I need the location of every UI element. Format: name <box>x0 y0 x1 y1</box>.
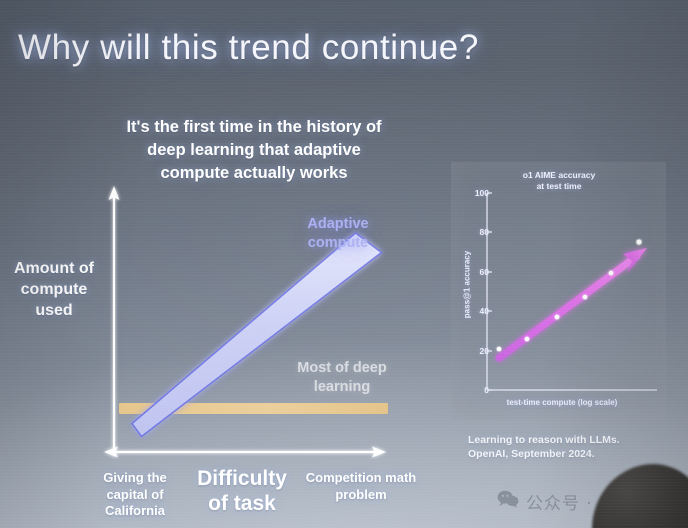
subtitle-line-1: It's the first time in the history of <box>104 116 404 139</box>
diagram-x-axis <box>104 447 386 458</box>
caption-line-2: OpenAI, September 2024. <box>468 448 620 462</box>
subtitle-line-2: deep learning that adaptive <box>104 139 404 162</box>
data-point <box>497 347 502 352</box>
data-point <box>525 337 530 342</box>
diagram-y-axis <box>109 186 120 455</box>
page-title: Why will this trend continue? <box>18 28 479 68</box>
subtitle-line-3: compute actually works <box>104 162 404 185</box>
chart-trend-arrow <box>499 248 647 358</box>
data-point <box>583 295 588 300</box>
adaptive-compute-bar <box>132 233 383 437</box>
data-point <box>555 315 560 320</box>
wechat-icon <box>497 490 519 513</box>
deep-learning-bar <box>119 403 388 414</box>
chart-source-caption: Learning to reason with LLMs. OpenAI, Se… <box>468 434 620 462</box>
o1-aime-accuracy-chart: o1 AIME accuracy at test time pass@1 acc… <box>451 162 666 420</box>
audience-head-silhouette <box>592 464 688 528</box>
data-point <box>609 271 614 276</box>
caption-line-1: Learning to reason with LLMs. <box>468 434 620 448</box>
chart-data-points <box>497 239 642 351</box>
slide-screenshot: Why will this trend continue? It's the f… <box>0 0 688 528</box>
diagram-y-axis-label: Amount of compute used <box>2 258 106 321</box>
data-point <box>636 239 641 244</box>
chart-plot-area <box>451 162 666 420</box>
diagram-x-right-label: Competition math problem <box>302 470 420 503</box>
diagram-x-left-label: Giving the capital of California <box>86 470 184 520</box>
most-of-deep-learning-label: Most of deep learning <box>283 359 401 397</box>
chart-axes <box>487 193 657 390</box>
slide-subtitle: It's the first time in the history of de… <box>104 116 404 184</box>
adaptive-compute-label: Adaptive compute <box>288 215 388 253</box>
diagram-x-axis-title: Difficulty of task <box>188 467 296 517</box>
